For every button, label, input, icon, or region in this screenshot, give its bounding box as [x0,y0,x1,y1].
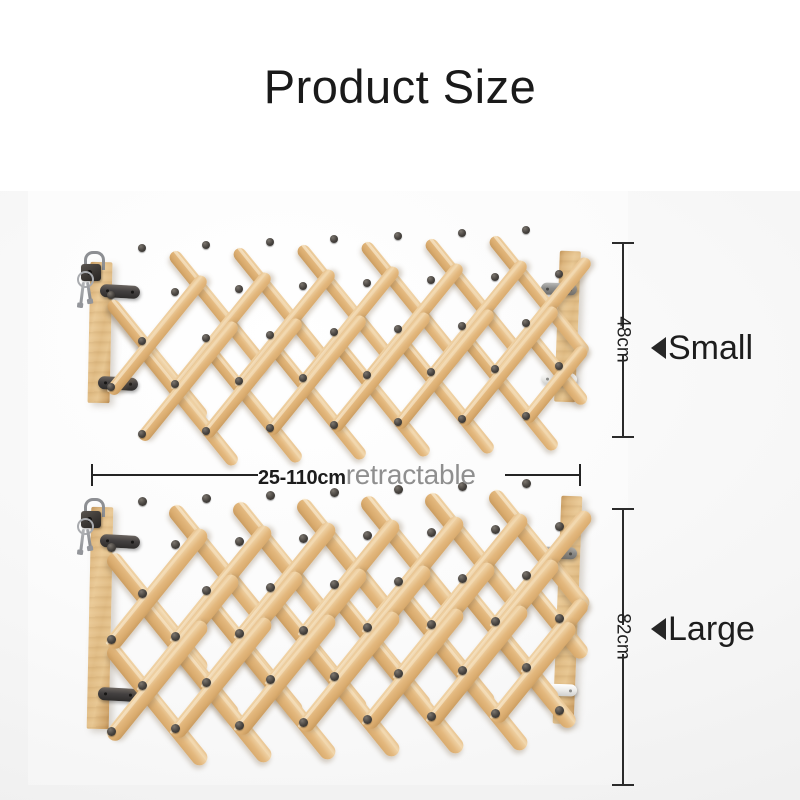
lattice-rivet [363,531,372,540]
small-size-callout: Small [651,331,753,365]
small-size-label: Small [668,331,753,365]
lattice-rivet [138,244,146,252]
lattice-rivet [363,371,371,379]
lattice-rivet [138,681,147,690]
lattice-rivet [107,543,116,552]
dimension-line-left [92,474,258,476]
width-label-number: 25-110cm [258,467,346,489]
lattice-rivet [299,626,308,635]
key-ring-icon [77,271,94,288]
lattice-rivet [427,276,435,284]
lattice-rivet [202,586,211,595]
lattice-rivet [394,418,402,426]
lattice-rivet [491,273,499,281]
lattice-rivet [458,574,467,583]
lattice-rivet [138,430,146,438]
lattice-rivet [202,427,210,435]
lattice-rivet [458,322,466,330]
lattice-rivet [299,374,307,382]
dimension-cap-bottom [612,436,634,438]
lattice-rivet [107,635,116,644]
lattice-rivet [330,328,338,336]
lattice-rivet [330,580,339,589]
dimension-cap-right [579,464,581,486]
lattice-rivet [555,706,564,715]
lattice-rivet [299,534,308,543]
lattice-rivet [235,721,244,730]
triangle-left-icon [651,618,666,640]
lattice-rivet [266,491,275,500]
lattice-rivet [491,365,499,373]
small-height-dimension: 48cm [611,242,635,438]
lattice-rivet [555,522,564,531]
lattice-rivet [171,288,179,296]
lattice-rivet [522,663,531,672]
lattice-rivet [138,497,147,506]
small-gate-product [0,191,620,461]
lattice-rivet [299,282,307,290]
product-size-infographic: Product Size [0,0,800,800]
lattice-rivet [522,226,530,234]
lattice-rivet [171,540,180,549]
width-label-word: retractable [346,459,476,490]
lattice-rivet [555,270,563,278]
width-label-group: 25-110cmretractable [258,461,476,489]
lattice-rivet [555,362,563,370]
lattice-rivet [522,319,530,327]
lattice-rivet [266,675,275,684]
dimension-line-right [505,474,580,476]
large-gate-product [0,491,620,781]
lattice-rivet [266,238,274,246]
lattice-rivet [107,291,115,299]
lattice-rivet [138,589,147,598]
lattice-rivet [266,583,275,592]
lattice-rivet [171,380,179,388]
large-size-label: Large [668,612,755,646]
lattice-rivet [299,718,308,727]
lattice-rivet [394,577,403,586]
lattice-rivet [522,412,530,420]
lattice-rivet [491,709,500,718]
lattice-rivet [427,620,436,629]
lattice-rivet [107,727,116,736]
lattice-rivet [522,571,531,580]
large-gate-hinge-bracket-top [100,534,141,549]
lattice-rivet [330,235,338,243]
lattice-rivet [330,421,338,429]
lattice-rivet [171,724,180,733]
lattice-rivet [138,337,146,345]
lattice-rivet [491,525,500,534]
large-height-dimension: 82cm [611,508,635,786]
dimension-line-upper [622,509,624,625]
lattice-rivet [427,368,435,376]
lattice-rivet [171,632,180,641]
lattice-rivet [266,424,274,432]
lattice-rivet [266,331,274,339]
lattice-rivet [235,629,244,638]
lattice-rivet [363,715,372,724]
lattice-rivet [394,669,403,678]
lattice-rivet [235,285,243,293]
lattice-rivet [363,279,371,287]
lattice-rivet [235,377,243,385]
lattice-rivet [394,325,402,333]
lattice-rivet [427,712,436,721]
page-title: Product Size [0,63,800,110]
lattice-rivet [107,383,115,391]
small-gate-hinge-bracket-top [100,284,141,299]
lattice-rivet [330,672,339,681]
lattice-rivet [458,415,466,423]
lattice-rivet [202,678,211,687]
lattice-rivet [458,666,467,675]
lattice-rivet [202,241,210,249]
large-height-label: 82cm [614,613,633,659]
lattice-rivet [235,537,244,546]
lattice-rivet [458,229,466,237]
lattice-rivet [427,528,436,537]
key-ring-icon [77,518,94,535]
dimension-line-lower [622,354,624,437]
large-size-callout: Large [651,612,755,646]
lattice-rivet [394,232,402,240]
lattice-rivet [555,614,564,623]
lattice-rivet [363,623,372,632]
product-photo-area [0,191,800,800]
lattice-rivet [202,494,211,503]
triangle-left-icon [651,337,666,359]
dimension-line-lower [622,654,624,785]
width-dimension: 25-110cmretractable [90,462,582,488]
lattice-rivet [202,334,210,342]
dimension-cap-bottom [612,784,634,786]
lattice-rivet [491,617,500,626]
dimension-line-upper [622,243,624,328]
